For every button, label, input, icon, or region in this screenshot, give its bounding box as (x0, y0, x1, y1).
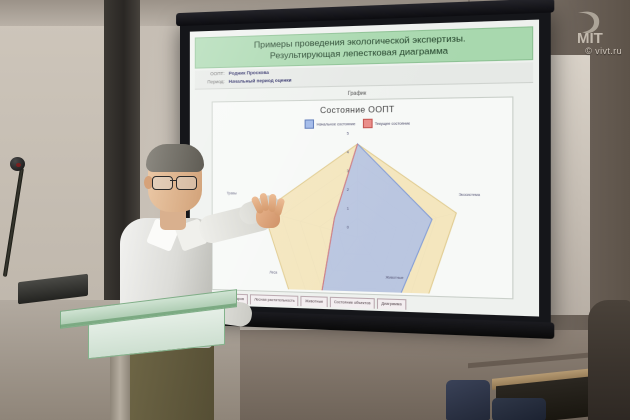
tab-object-state[interactable]: Состояние объектов (330, 297, 375, 309)
microphone-indicator (16, 163, 21, 167)
podium-stem (110, 348, 130, 420)
chair-seat (492, 398, 546, 420)
radar-tick-3: 3 (347, 169, 349, 173)
radar-tick-0: 0 (347, 225, 349, 229)
presenter-glasses-left-lens (152, 176, 173, 190)
radar-axis-label-left: Травы (227, 191, 237, 195)
tab-animals[interactable]: Животные (301, 296, 328, 307)
presenter-hand (252, 196, 286, 230)
radar-tick-1: 1 (347, 207, 349, 211)
radar-tick-2: 2 (347, 188, 349, 192)
left-wall (0, 0, 120, 300)
legend-label-current: Текущее состояние (375, 121, 410, 126)
legend-item-current: Текущее состояние (363, 118, 410, 128)
legend-swatch-current (363, 119, 373, 129)
radar-axis-label-bottom-right: Животные (386, 275, 404, 280)
presentation-slide: Примеры проведения экологической эксперт… (190, 20, 539, 317)
projector-screen: Примеры проведения экологической эксперт… (180, 6, 551, 329)
tab-diagram[interactable]: Диаграмма (377, 298, 406, 310)
mit-logo: MIT (573, 6, 623, 46)
chair-back (446, 380, 490, 420)
projection-surface: Примеры проведения экологической эксперт… (190, 20, 539, 317)
field-value-period: Начальный период оценки (229, 76, 292, 86)
legend-label-initial: Начальное состояние (317, 122, 356, 127)
slide-title-banner: Примеры проведения экологической эксперт… (195, 26, 533, 68)
presenter-glasses-right-lens (176, 176, 197, 190)
tab-forest-vegetation[interactable]: Лесная растительность (250, 294, 299, 306)
presenter-hair (146, 144, 204, 172)
foreground-silhouette (588, 300, 630, 420)
presenter-glasses-bridge (170, 180, 177, 181)
lecture-room-photo: Примеры проведения экологической эксперт… (0, 0, 630, 420)
chart-title: Состояние ООПТ (213, 103, 513, 117)
svg-text:MIT: MIT (577, 30, 603, 46)
legend-item-initial: Начальное состояние (305, 119, 355, 129)
radar-axis-label-right: Экосистема (459, 193, 480, 197)
radar-tick-5: 5 (347, 132, 349, 136)
site-credit: © vivt.ru (585, 46, 622, 56)
radar-axis-label-bottom-left: Леса (269, 270, 277, 274)
legend-swatch-initial (305, 119, 314, 128)
radar-tick-4: 4 (347, 150, 349, 154)
field-label-period: Период: (201, 78, 225, 87)
